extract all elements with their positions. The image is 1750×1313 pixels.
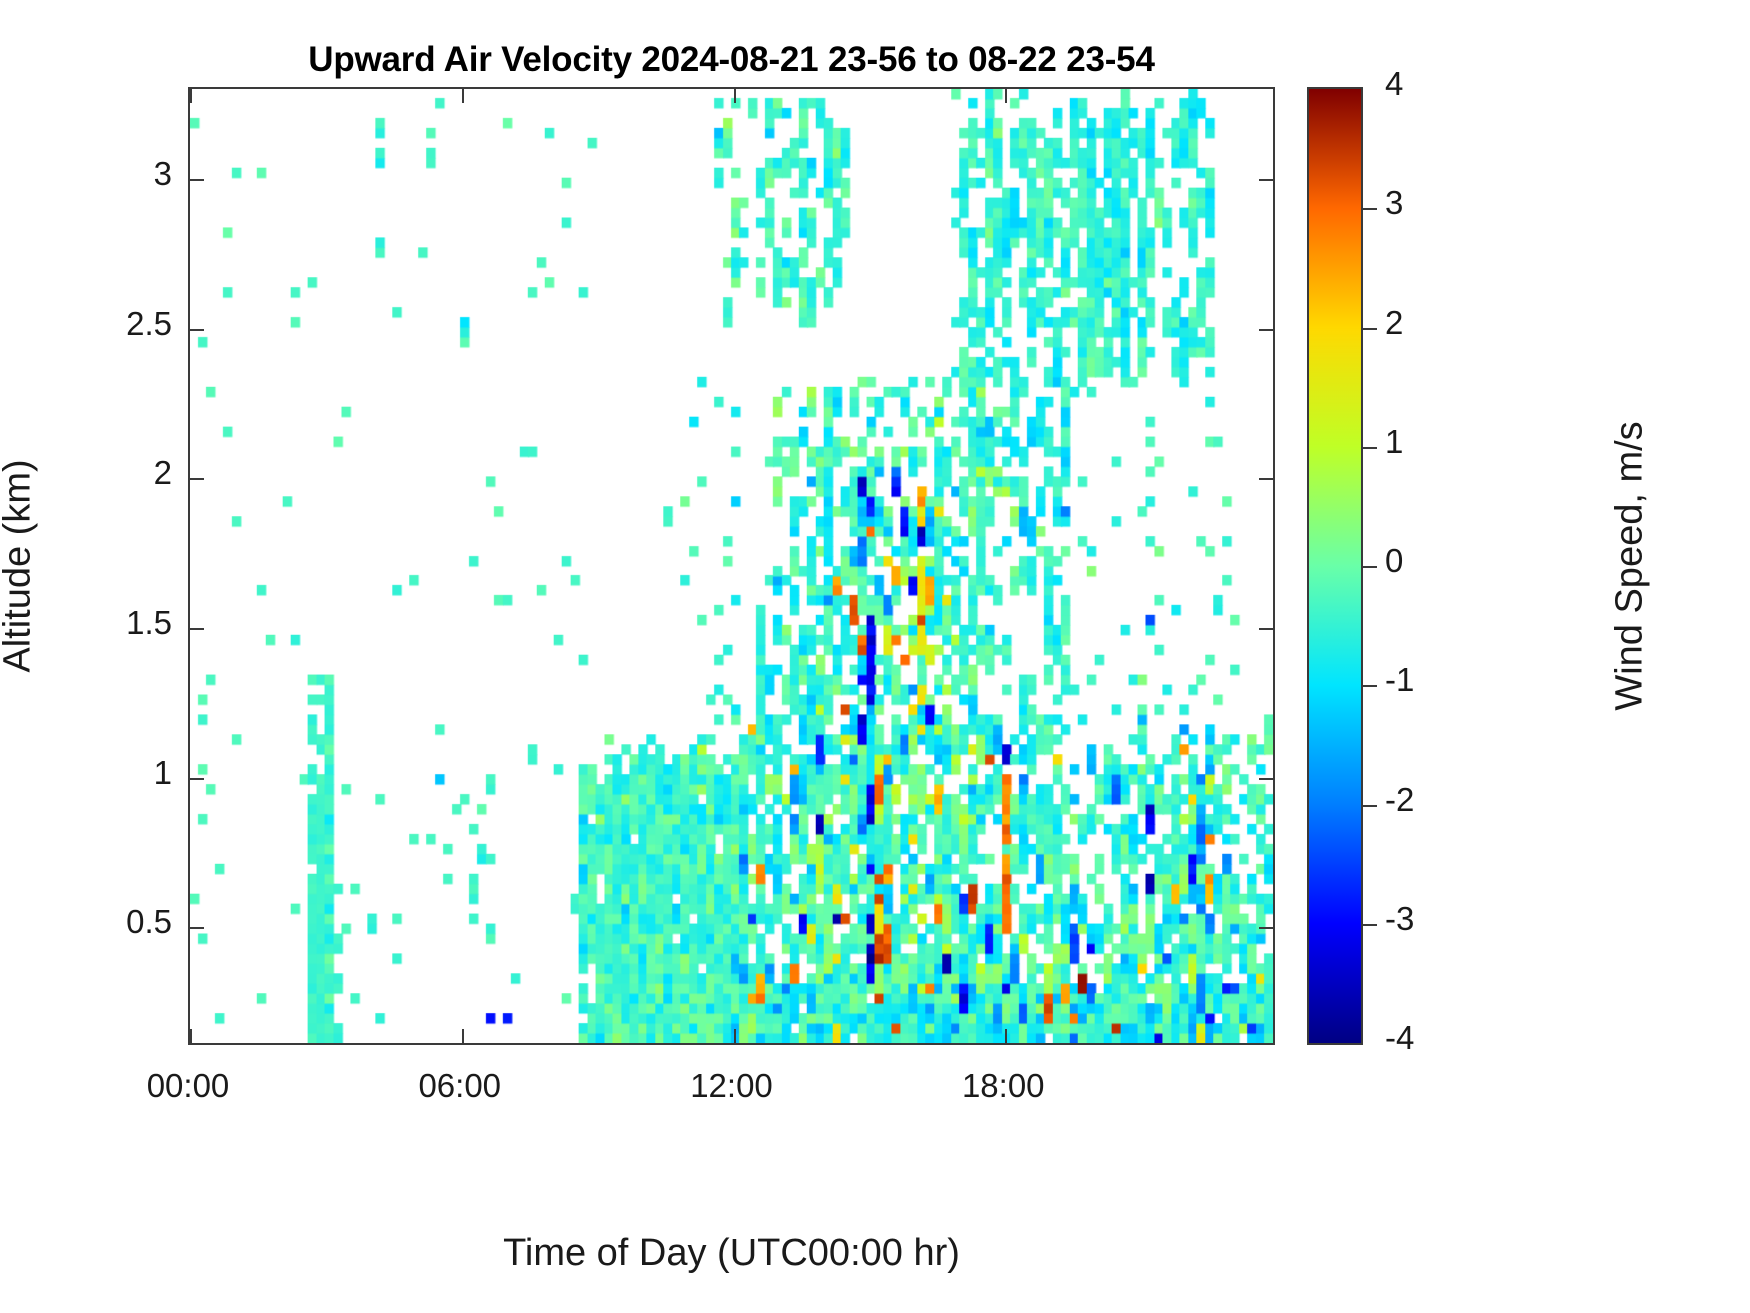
colorbar-tick-2 (1361, 328, 1377, 330)
plot-area (188, 87, 1275, 1045)
x-tick-12:00 (734, 89, 736, 103)
y-tick-1.5 (1259, 628, 1273, 630)
x-tick-label-00:00: 00:00 (88, 1067, 288, 1105)
y-tick-label-1.5: 1.5 (22, 604, 172, 642)
x-tick-label-18:00: 18:00 (903, 1067, 1103, 1105)
x-axis-title: Time of Day (UTC00:00 hr) (188, 1232, 1275, 1275)
colorbar-tick-label--3: -3 (1385, 900, 1465, 938)
colorbar[interactable] (1307, 87, 1363, 1045)
y-tick-label-1: 1 (22, 754, 172, 792)
y-tick-label-3: 3 (22, 155, 172, 193)
colorbar-tick-label-3: 3 (1385, 184, 1465, 222)
y-tick-2.5 (190, 329, 204, 331)
colorbar-tick-label-0: 0 (1385, 542, 1465, 580)
y-tick-label-0.5: 0.5 (22, 903, 172, 941)
y-tick-0.5 (190, 927, 204, 929)
y-tick-3 (190, 179, 204, 181)
x-tick-18:00 (1005, 89, 1007, 103)
colorbar-tick--3 (1361, 924, 1377, 926)
y-tick-2.5 (1259, 329, 1273, 331)
colorbar-title: Wind Speed, m/s (1609, 351, 1652, 781)
x-tick-18:00 (1005, 1029, 1007, 1043)
y-tick-2 (190, 478, 204, 480)
colorbar-tick-0 (1361, 566, 1377, 568)
figure-root: Upward Air Velocity 2024-08-21 23-56 to … (0, 0, 1750, 1313)
colorbar-tick-label--4: -4 (1385, 1019, 1465, 1057)
colorbar-tick-label--2: -2 (1385, 781, 1465, 819)
x-tick-label-12:00: 12:00 (632, 1067, 832, 1105)
heatmap-canvas (190, 89, 1273, 1043)
y-tick-1 (190, 778, 204, 780)
y-tick-2 (1259, 478, 1273, 480)
x-tick-12:00 (734, 1029, 736, 1043)
x-tick-00:00 (190, 1029, 192, 1043)
colorbar-tick-3 (1361, 208, 1377, 210)
y-tick-1 (1259, 778, 1273, 780)
x-tick-06:00 (462, 89, 464, 103)
y-tick-3 (1259, 179, 1273, 181)
y-tick-label-2: 2 (22, 454, 172, 492)
y-axis-title: Altitude (km) (0, 356, 40, 776)
colorbar-tick-label-4: 4 (1385, 65, 1465, 103)
colorbar-tick-label-2: 2 (1385, 304, 1465, 342)
colorbar-tick-label-1: 1 (1385, 423, 1465, 461)
x-tick-06:00 (462, 1029, 464, 1043)
y-tick-label-2.5: 2.5 (22, 305, 172, 343)
y-tick-1.5 (190, 628, 204, 630)
colorbar-tick--1 (1361, 685, 1377, 687)
x-tick-label-06:00: 06:00 (360, 1067, 560, 1105)
colorbar-tick--2 (1361, 805, 1377, 807)
colorbar-tick-1 (1361, 447, 1377, 449)
colorbar-tick-label--1: -1 (1385, 661, 1465, 699)
y-tick-0.5 (1259, 927, 1273, 929)
x-tick-00:00 (190, 89, 192, 103)
colorbar-gradient (1309, 89, 1361, 1043)
page-title: Upward Air Velocity 2024-08-21 23-56 to … (188, 40, 1275, 80)
